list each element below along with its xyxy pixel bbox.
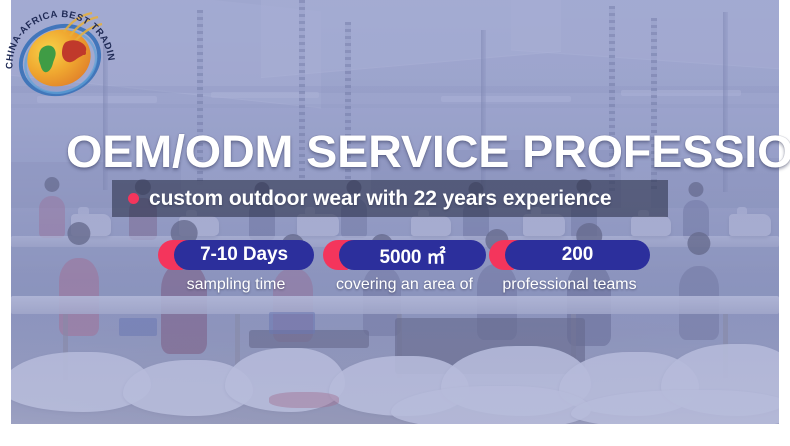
feature-pill: 200 <box>505 240 650 270</box>
feature-value: 7-10 Days <box>200 244 288 266</box>
logo-svg: CHINA-AFRICA BEST TRADING PLATFORM <box>4 6 116 106</box>
feature-item: 5000 ㎡ covering an area of <box>323 240 486 294</box>
taiwan-dot <box>82 51 86 55</box>
feature-caption: sampling time <box>158 276 314 294</box>
bullet-dot-icon <box>128 193 139 204</box>
feature-pill-wrap: 7-10 Days <box>158 240 314 270</box>
feature-pill: 7-10 Days <box>174 240 314 270</box>
headline: OEM/ODM SERVICE PROFESSIONAL <box>66 126 790 178</box>
feature-caption: professional teams <box>489 276 650 294</box>
feature-item: 7-10 Days sampling time <box>158 240 314 294</box>
feature-pill-wrap: 5000 ㎡ <box>323 240 486 270</box>
feature-item: 200 professional teams <box>489 240 650 294</box>
china-africa-logo: CHINA-AFRICA BEST TRADING PLATFORM <box>4 6 116 106</box>
banner-content: OEM/ODM SERVICE PROFESSIONAL custom outd… <box>0 0 790 446</box>
promo-banner: CHINA-AFRICA BEST TRADING PLATFORM OEM/O… <box>0 0 790 446</box>
feature-value: 200 <box>562 244 593 266</box>
feature-value: 5000 ㎡ <box>380 242 446 269</box>
subtitle-bar: custom outdoor wear with 22 years experi… <box>112 180 668 217</box>
feature-pill-wrap: 200 <box>489 240 650 270</box>
feature-pill: 5000 ㎡ <box>339 240 486 270</box>
subtitle-text: custom outdoor wear with 22 years experi… <box>149 187 611 211</box>
feature-caption: covering an area of <box>323 276 486 294</box>
